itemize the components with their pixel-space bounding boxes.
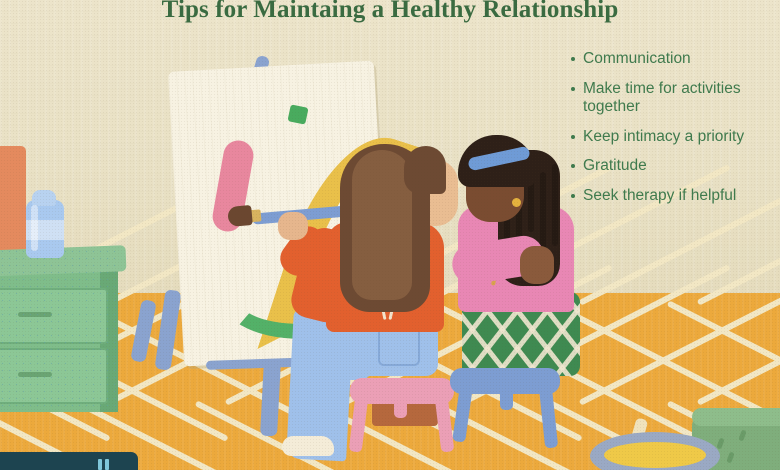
tip-item: Communication <box>571 50 780 69</box>
tip-item: Seek therapy if helpful <box>571 187 780 206</box>
green-pot-rim <box>692 408 780 426</box>
tip-label: Keep intimacy a priority <box>583 128 780 147</box>
tip-label: Make time for activities together <box>583 80 780 117</box>
pause-icon[interactable] <box>98 459 111 470</box>
tip-item: Make time for activities together <box>571 80 780 117</box>
person-left-hand <box>278 212 308 240</box>
braid-strand <box>552 164 558 246</box>
bullet-icon <box>571 194 575 198</box>
dresser-speckle-texture <box>0 248 118 412</box>
tip-label: Gratitude <box>583 157 780 176</box>
page-title: Tips for Maintaing a Healthy Relationshi… <box>0 0 780 24</box>
paintbrush-bristles <box>227 205 253 227</box>
person-right-hand <box>520 246 554 284</box>
tip-item: Gratitude <box>571 157 780 176</box>
bullet-icon <box>571 57 575 61</box>
tip-label: Communication <box>583 50 780 69</box>
person-left-pocket <box>378 330 420 366</box>
water-bottle-cap <box>32 190 56 206</box>
person-left-shoe <box>282 436 334 456</box>
person-right-earring <box>512 198 521 207</box>
tip-item: Keep intimacy a priority <box>571 128 780 147</box>
bullet-icon <box>571 135 575 139</box>
paint-bowl-yellow-paint <box>604 442 706 468</box>
person-left-hair-front <box>404 146 446 194</box>
bullet-icon <box>571 164 575 168</box>
paint-dab-green-square <box>287 104 308 124</box>
tip-label: Seek therapy if helpful <box>583 187 780 206</box>
water-bottle-highlight <box>31 205 38 251</box>
video-player-bar[interactable] <box>0 452 138 470</box>
tips-list: CommunicationMake time for activities to… <box>571 50 780 216</box>
person-left-hair-highlight <box>352 150 412 300</box>
pink-stool-seat <box>350 378 454 404</box>
illustration-slide: Tips for Maintaing a Healthy Relationshi… <box>0 0 780 470</box>
blue-stool-seat <box>450 368 560 394</box>
bullet-icon <box>571 87 575 91</box>
